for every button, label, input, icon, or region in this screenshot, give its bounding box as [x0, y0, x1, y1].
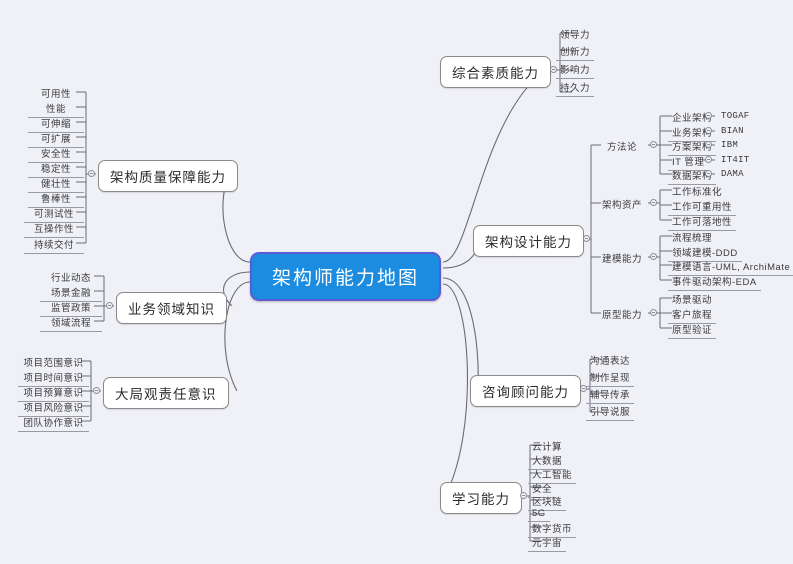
- toggle-architecture-design[interactable]: [583, 235, 590, 242]
- root-node[interactable]: 架构师能力地图: [250, 252, 441, 301]
- leaf-leadership[interactable]: 领导力: [556, 26, 594, 44]
- leaf-ibm[interactable]: IBM: [718, 139, 741, 153]
- mindmap-canvas: 架构师能力地图 综合素质能力 领导力 创新力 影响力 持久力 架构设计能力 方法…: [0, 0, 793, 564]
- toggle-architecture-assets[interactable]: [650, 199, 657, 206]
- leaf-persistence[interactable]: 持久力: [556, 79, 594, 97]
- toggle-modeling-capability[interactable]: [650, 253, 657, 260]
- toggle-methodology[interactable]: [650, 141, 657, 148]
- leaf-bian[interactable]: BIAN: [718, 125, 747, 139]
- group-architecture-assets[interactable]: 架构资产: [598, 196, 646, 214]
- leaf-it4it[interactable]: IT4IT: [718, 154, 753, 168]
- leaf-coaching-inheritance[interactable]: 辅导传承: [586, 386, 634, 404]
- leaf-domain-process[interactable]: 领域流程: [40, 314, 102, 332]
- branch-business-domain[interactable]: 业务领域知识: [116, 292, 227, 324]
- branch-comprehensive-quality[interactable]: 综合素质能力: [440, 56, 551, 88]
- leaf-continuous-delivery[interactable]: 持续交付: [24, 236, 84, 254]
- toggle-big-picture[interactable]: [93, 387, 100, 394]
- leaf-influence[interactable]: 影响力: [556, 61, 594, 79]
- group-methodology[interactable]: 方法论: [603, 138, 641, 156]
- toggle-enterprise-architecture[interactable]: [705, 112, 712, 119]
- leaf-communication-expression[interactable]: 沟通表达: [586, 352, 634, 370]
- branch-quality-assurance[interactable]: 架构质量保障能力: [98, 160, 238, 192]
- toggle-business-architecture[interactable]: [705, 127, 712, 134]
- branch-learning[interactable]: 学习能力: [440, 482, 522, 514]
- leaf-prototype-validation[interactable]: 原型验证: [668, 321, 716, 339]
- toggle-business-domain[interactable]: [106, 302, 113, 309]
- toggle-prototype-capability[interactable]: [650, 309, 657, 316]
- toggle-solution-architecture[interactable]: [705, 141, 712, 148]
- toggle-learning[interactable]: [520, 492, 527, 499]
- leaf-team-collaboration-awareness[interactable]: 团队协作意识: [18, 414, 89, 432]
- toggle-data-architecture[interactable]: [705, 170, 712, 177]
- leaf-innovation[interactable]: 创新力: [556, 43, 594, 61]
- leaf-guidance-persuasion[interactable]: 引导说服: [586, 403, 634, 421]
- branch-consulting[interactable]: 咨询顾问能力: [470, 375, 581, 407]
- branch-architecture-design[interactable]: 架构设计能力: [473, 225, 584, 257]
- leaf-creation-presentation[interactable]: 制作呈现: [586, 369, 634, 387]
- leaf-metaverse[interactable]: 元宇宙: [528, 534, 566, 552]
- group-modeling-capability[interactable]: 建模能力: [598, 250, 646, 268]
- leaf-event-driven-architecture-eda[interactable]: 事件驱动架构-EDA: [668, 273, 761, 291]
- branch-big-picture[interactable]: 大局观责任意识: [103, 377, 229, 409]
- leaf-togaf[interactable]: TOGAF: [718, 110, 753, 124]
- group-prototype-capability[interactable]: 原型能力: [598, 306, 646, 324]
- toggle-it-management[interactable]: [705, 156, 712, 163]
- leaf-dama[interactable]: DAMA: [718, 168, 747, 182]
- toggle-quality-assurance[interactable]: [88, 170, 95, 177]
